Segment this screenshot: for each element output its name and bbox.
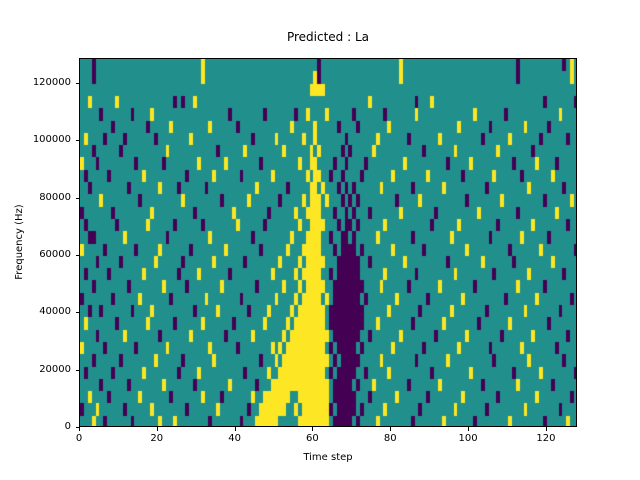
y-tick-label: 0 — [0, 421, 71, 433]
x-tick-label: 60 — [282, 433, 342, 445]
y-tick-label: 40000 — [0, 306, 71, 318]
x-tick-label: 20 — [127, 433, 187, 445]
y-tick-label: 20000 — [0, 364, 71, 376]
y-tick-mark — [76, 255, 80, 256]
x-tick-label: 120 — [516, 433, 576, 445]
x-tick-mark — [468, 427, 469, 431]
y-tick-label: 80000 — [0, 192, 71, 204]
x-tick-label: 100 — [438, 433, 498, 445]
y-tick-mark — [76, 140, 80, 141]
matplotlib-figure: Predicted : La 020406080100120 020000400… — [0, 0, 640, 480]
heatmap-axes — [79, 58, 577, 427]
y-tick-label: 120000 — [0, 77, 71, 89]
x-axis-label: Time step — [79, 452, 577, 464]
y-tick-mark — [76, 198, 80, 199]
x-tick-mark — [235, 427, 236, 431]
x-tick-mark — [546, 427, 547, 431]
heatmap-image — [80, 59, 577, 427]
x-tick-mark — [312, 427, 313, 431]
y-tick-mark — [76, 83, 80, 84]
x-tick-label: 40 — [205, 433, 265, 445]
x-tick-label: 80 — [360, 433, 420, 445]
chart-title: Predicted : La — [79, 30, 577, 44]
x-tick-mark — [390, 427, 391, 431]
y-tick-mark — [76, 312, 80, 313]
x-tick-label: 0 — [49, 433, 109, 445]
x-tick-mark — [79, 427, 80, 431]
y-tick-mark — [76, 370, 80, 371]
y-axis-label: Frequency (Hz) — [14, 142, 26, 342]
y-tick-label: 60000 — [0, 249, 71, 261]
y-tick-label: 100000 — [0, 134, 71, 146]
y-tick-mark — [76, 427, 80, 428]
x-tick-mark — [157, 427, 158, 431]
